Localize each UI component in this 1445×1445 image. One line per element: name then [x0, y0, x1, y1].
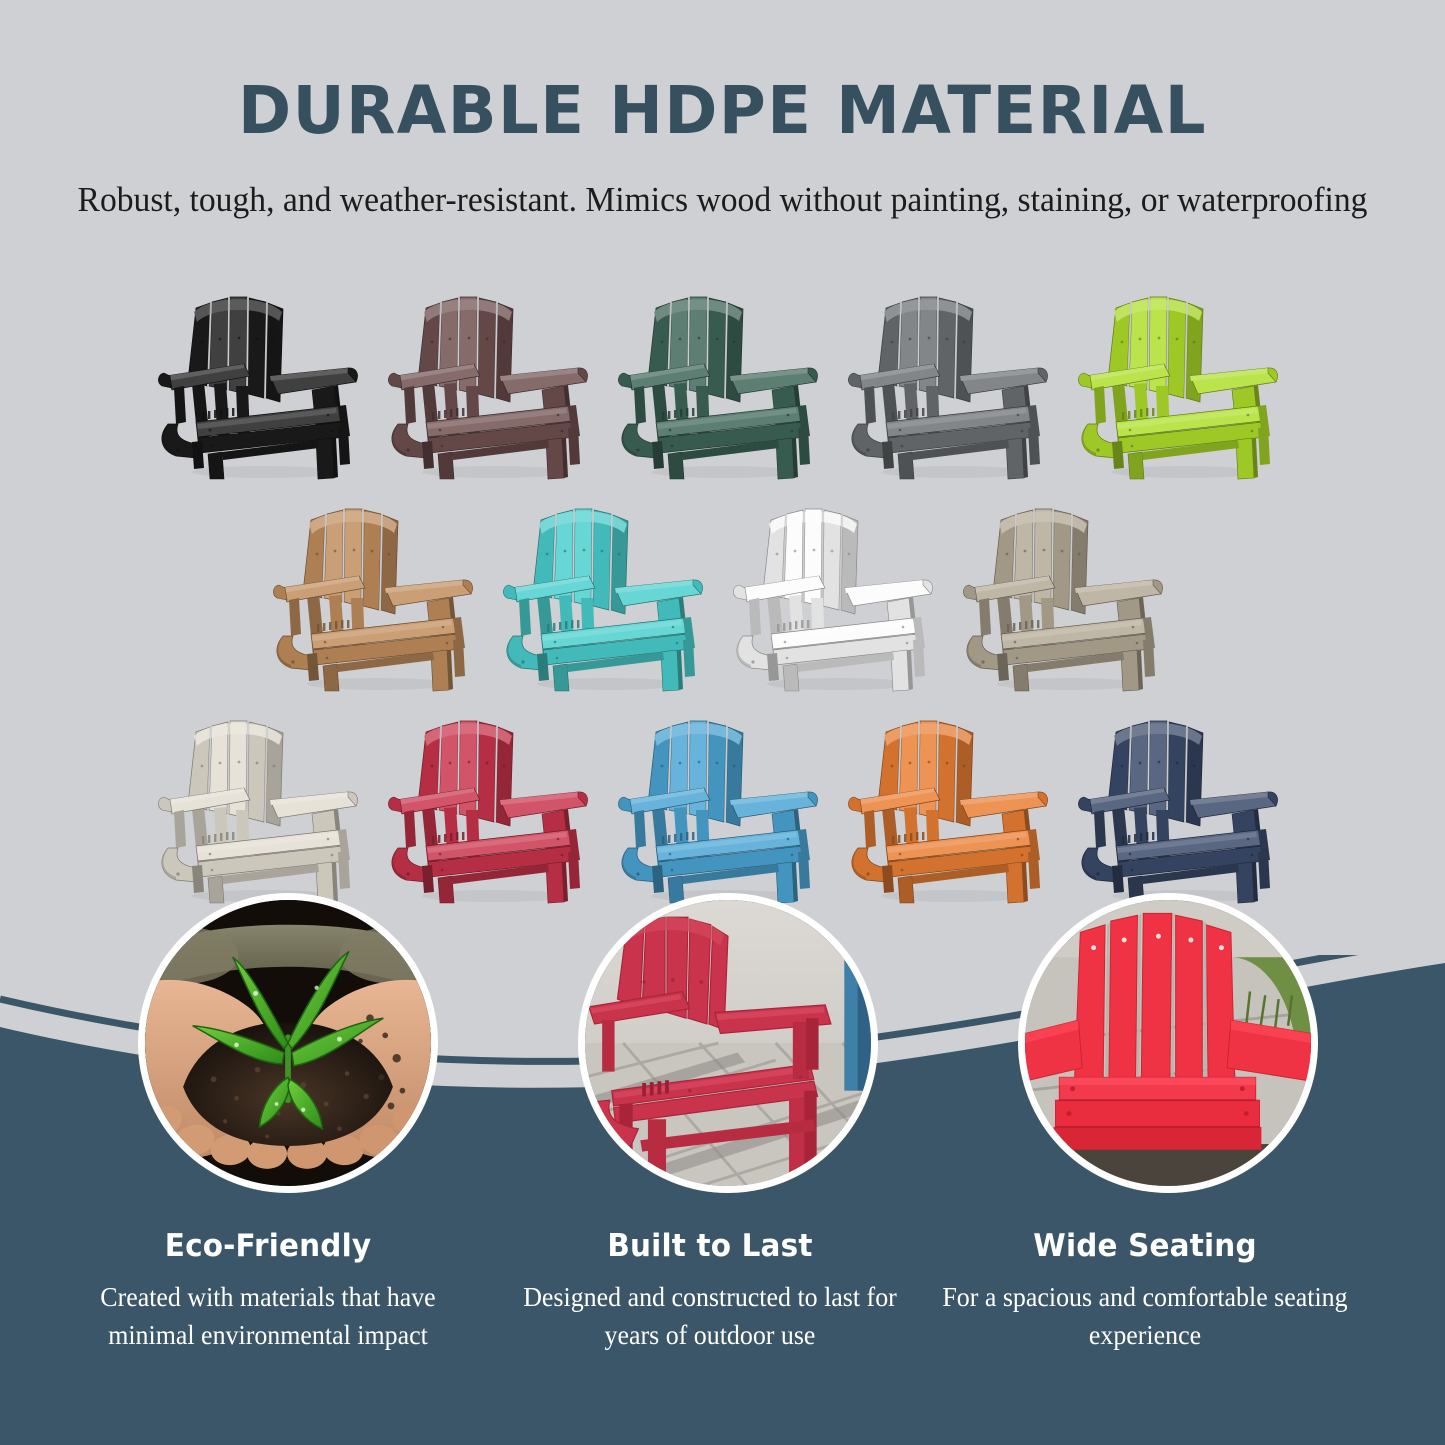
feature-title: Wide Seating	[936, 1228, 1354, 1264]
page-title: DURABLE HDPE MATERIAL	[22, 78, 1424, 144]
chair-swatch-white[interactable]	[723, 480, 953, 692]
feature-title: Built to Last	[501, 1228, 919, 1264]
page-subtitle: Robust, tough, and weather-resistant. Mi…	[29, 174, 1416, 226]
chair-row	[0, 268, 1445, 480]
chair-swatch-navy-blue[interactable]	[1068, 692, 1298, 904]
chair-swatch-lime-green[interactable]	[1068, 268, 1298, 480]
chair-swatch-brown[interactable]	[378, 268, 608, 480]
chair-swatch-khaki[interactable]	[953, 480, 1183, 692]
adirondack-chair-illustration	[957, 484, 1179, 692]
chair-row	[0, 692, 1445, 904]
feature-title: Eco-Friendly	[59, 1228, 477, 1264]
feature-description: For a spacious and comfortable seating e…	[934, 1278, 1356, 1355]
feature-description: Created with materials that have minimal…	[57, 1278, 479, 1355]
chair-swatch-gray[interactable]	[838, 268, 1068, 480]
feature-text-eco-friendly: Eco-Friendly Created with materials that…	[48, 1228, 488, 1355]
chair-swatch-orange[interactable]	[838, 692, 1068, 904]
feature-image-built-to-last	[578, 893, 878, 1193]
adirondack-chair-illustration	[382, 272, 604, 480]
adirondack-chair-illustration	[612, 272, 834, 480]
adirondack-chair-illustration	[612, 696, 834, 904]
chair-swatch-ivory[interactable]	[148, 692, 378, 904]
adirondack-chair-illustration	[152, 272, 374, 480]
adirondack-chair-illustration	[497, 484, 719, 692]
header-block: DURABLE HDPE MATERIAL Robust, tough, and…	[0, 0, 1445, 226]
adirondack-chair-illustration	[1072, 272, 1294, 480]
chair-row	[0, 480, 1445, 692]
chair-swatch-dark-green[interactable]	[608, 268, 838, 480]
chair-swatch-blue[interactable]	[608, 692, 838, 904]
chair-color-grid	[0, 268, 1445, 904]
feature-text-built-to-last: Built to Last Designed and constructed t…	[490, 1228, 930, 1355]
feature-description: Designed and constructed to last for yea…	[499, 1278, 921, 1355]
adirondack-chair-illustration	[267, 484, 489, 692]
chair-swatch-teak[interactable]	[263, 480, 493, 692]
adirondack-chair-illustration	[842, 272, 1064, 480]
chair-swatch-turquoise[interactable]	[493, 480, 723, 692]
adirondack-chair-illustration	[727, 484, 949, 692]
adirondack-chair-illustration	[152, 696, 374, 904]
feature-image-wide-seating	[1018, 893, 1318, 1193]
adirondack-chair-illustration	[382, 696, 604, 904]
adirondack-chair-illustration	[1072, 696, 1294, 904]
adirondack-chair-illustration	[842, 696, 1064, 904]
chair-swatch-red[interactable]	[378, 692, 608, 904]
feature-text-wide-seating: Wide Seating For a spacious and comforta…	[925, 1228, 1365, 1355]
chair-swatch-black[interactable]	[148, 268, 378, 480]
feature-image-eco-friendly	[138, 893, 438, 1193]
